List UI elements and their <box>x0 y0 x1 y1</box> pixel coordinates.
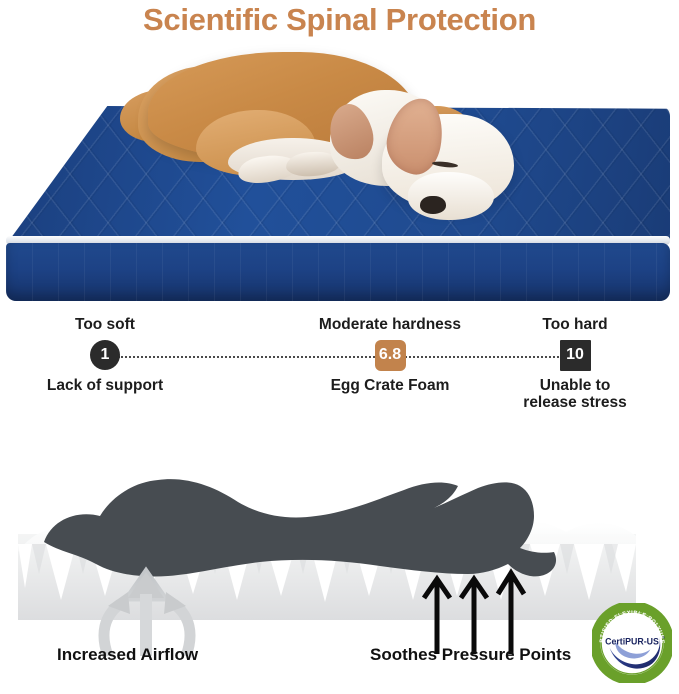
scale-stop-bottom-label: Lack of support <box>5 377 205 394</box>
scale-stop-bottom-line-1: Unable to <box>475 377 675 394</box>
certipur-us-logo: CONTAINS CERTIFIED FLEXIBLE POLYURETHANE… <box>592 603 672 683</box>
page-title: Scientific Spinal Protection <box>0 0 679 44</box>
dog-nose <box>420 196 446 214</box>
scale-stop-too-soft: Too soft 1 Lack of support <box>5 316 205 394</box>
scale-stop-bottom-line-2: release stress <box>475 394 675 411</box>
bed-side-panel <box>6 243 670 301</box>
scale-stop-top-label: Too soft <box>5 316 205 334</box>
scale-badge-wrap: 1 <box>5 338 205 372</box>
scale-stop-bottom-label: Egg Crate Foam <box>290 377 490 394</box>
scale-stop-top-label: Moderate hardness <box>290 316 490 334</box>
scale-stop-moderate: Moderate hardness 6.8 Egg Crate Foam <box>290 316 490 394</box>
label-soothes-pressure-points: Soothes Pressure Points <box>370 645 571 665</box>
pressure-arrows <box>424 573 524 654</box>
label-increased-airflow: Increased Airflow <box>57 645 198 665</box>
dog-muzzle <box>408 172 494 220</box>
certipur-registered-mark: ® <box>662 636 665 640</box>
scale-badge-10: 10 <box>560 340 591 371</box>
scale-badge-wrap: 10 <box>475 338 675 372</box>
product-photo <box>0 44 679 302</box>
scale-badge-wrap: 6.8 <box>290 338 490 372</box>
scale-stop-top-label: Too hard <box>475 316 675 334</box>
certipur-center-text: CertiPUR-US <box>605 637 659 647</box>
scale-badge-1: 1 <box>90 340 120 370</box>
scale-stop-bottom-label: Unable to release stress <box>475 377 675 412</box>
hardness-scale: Too soft 1 Lack of support Moderate hard… <box>0 310 679 420</box>
scale-stop-too-hard: Too hard 10 Unable to release stress <box>475 316 675 412</box>
scale-badge-6-8: 6.8 <box>375 340 406 371</box>
